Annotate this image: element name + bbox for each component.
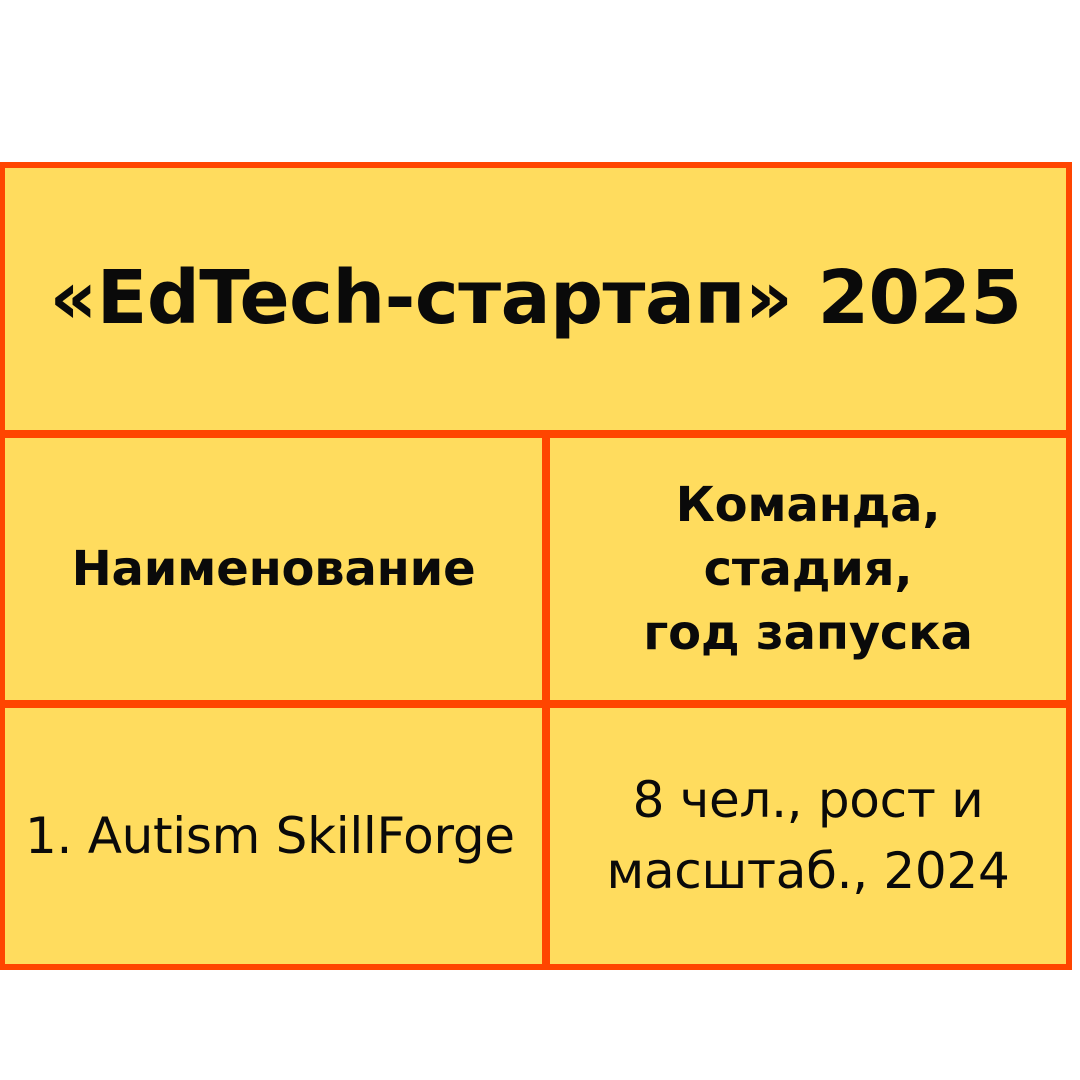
column-header-name: Наименование — [5, 438, 542, 700]
table-title-text: «EdTech-стартап» 2025 — [49, 260, 1021, 338]
column-header-team-stage-year-label: Команда, стадия,год запуска — [568, 473, 1048, 666]
team-stage-year-line-1: 8 чел., рост и — [633, 771, 984, 829]
column-header-team-line-1: Команда, стадия, — [676, 477, 941, 597]
column-header-name-label: Наименование — [72, 537, 476, 601]
team-stage-year-line-2: масштаб., 2024 — [607, 842, 1010, 900]
table-title-cell: «EdTech-стартап» 2025 — [5, 168, 1066, 430]
table-row: 1. Autism SkillForge 8 чел., рост имасшт… — [5, 700, 1066, 964]
team-stage-year-text: 8 чел., рост имасштаб., 2024 — [607, 765, 1010, 907]
edtech-startup-table: «EdTech-стартап» 2025 Наименование Коман… — [0, 162, 1072, 970]
column-header-team-line-2: год запуска — [643, 605, 973, 661]
cell-startup-name: 1. Autism SkillForge — [5, 708, 542, 964]
table-title-row: «EdTech-стартап» 2025 — [5, 168, 1066, 430]
cell-team-stage-year: 8 чел., рост имасштаб., 2024 — [542, 708, 1066, 964]
table-header-row: Наименование Команда, стадия,год запуска — [5, 430, 1066, 700]
startup-name-text: 1. Autism SkillForge — [25, 801, 515, 872]
column-header-team-stage-year: Команда, стадия,год запуска — [542, 438, 1066, 700]
